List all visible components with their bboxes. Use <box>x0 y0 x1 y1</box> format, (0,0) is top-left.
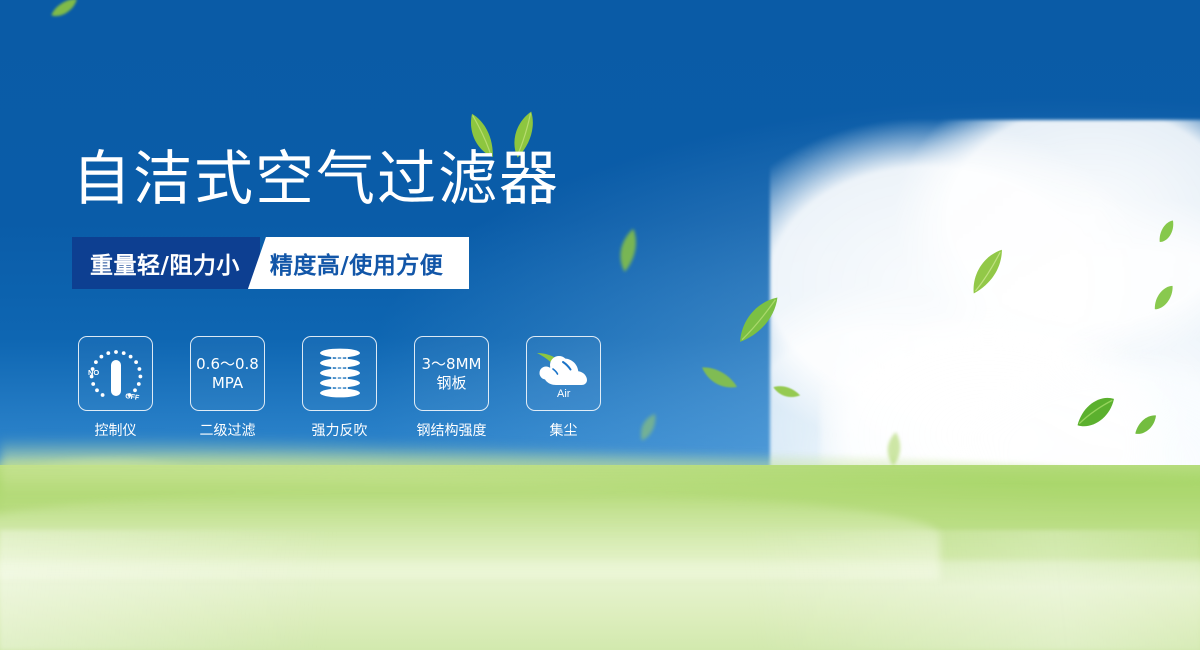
feature-item-control[interactable]: NO OFF 控制仪 <box>78 336 153 440</box>
feature-list: NO OFF 控制仪 0.6～0.8 MPA 二级过滤 <box>78 336 601 440</box>
steel-thickness: 3～8MM <box>422 355 482 374</box>
pressure-unit: MPA <box>212 374 243 393</box>
pressure-value: 0.6～0.8 <box>196 355 259 374</box>
air-cloud-glyph: Air <box>533 345 595 403</box>
grass-highlight <box>0 530 1200 650</box>
feature-label: 集尘 <box>550 420 578 440</box>
air-cloud-icon: Air <box>526 336 601 411</box>
subtitle-left: 重量轻/阻力小 <box>72 237 260 289</box>
control-dial-glyph: NO OFF <box>85 345 147 403</box>
steel-plate-text-icon: 3～8MM 钢板 <box>414 336 489 411</box>
feature-label: 控制仪 <box>95 420 137 440</box>
subtitle-right: 精度高/使用方便 <box>248 237 469 289</box>
steel-material: 钢板 <box>436 374 466 393</box>
feature-item-pressure[interactable]: 0.6～0.8 MPA 二级过滤 <box>190 336 265 440</box>
leaf-icon <box>883 431 904 467</box>
svg-text:OFF: OFF <box>124 393 140 402</box>
filter-stack-icon <box>302 336 377 411</box>
feature-item-blowback[interactable]: 强力反吹 <box>302 336 377 440</box>
feature-label: 二级过滤 <box>200 420 256 440</box>
pressure-text-icon: 0.6～0.8 MPA <box>190 336 265 411</box>
svg-text:NO: NO <box>88 368 99 377</box>
subtitle-bar: 重量轻/阻力小 精度高/使用方便 <box>72 237 469 289</box>
grass-field <box>0 465 1200 650</box>
filter-stack-glyph <box>314 346 366 402</box>
page-title: 自洁式空气过滤器 <box>72 143 560 215</box>
feature-label: 钢结构强度 <box>417 420 487 440</box>
product-banner: 自洁式空气过滤器 重量轻/阻力小 精度高/使用方便 <box>0 0 1200 650</box>
feature-label: 强力反吹 <box>312 420 368 440</box>
control-dial-icon: NO OFF <box>78 336 153 411</box>
feature-item-dust[interactable]: Air 集尘 <box>526 336 601 440</box>
air-label: Air <box>557 388 571 400</box>
feature-item-steel[interactable]: 3～8MM 钢板 钢结构强度 <box>414 336 489 440</box>
